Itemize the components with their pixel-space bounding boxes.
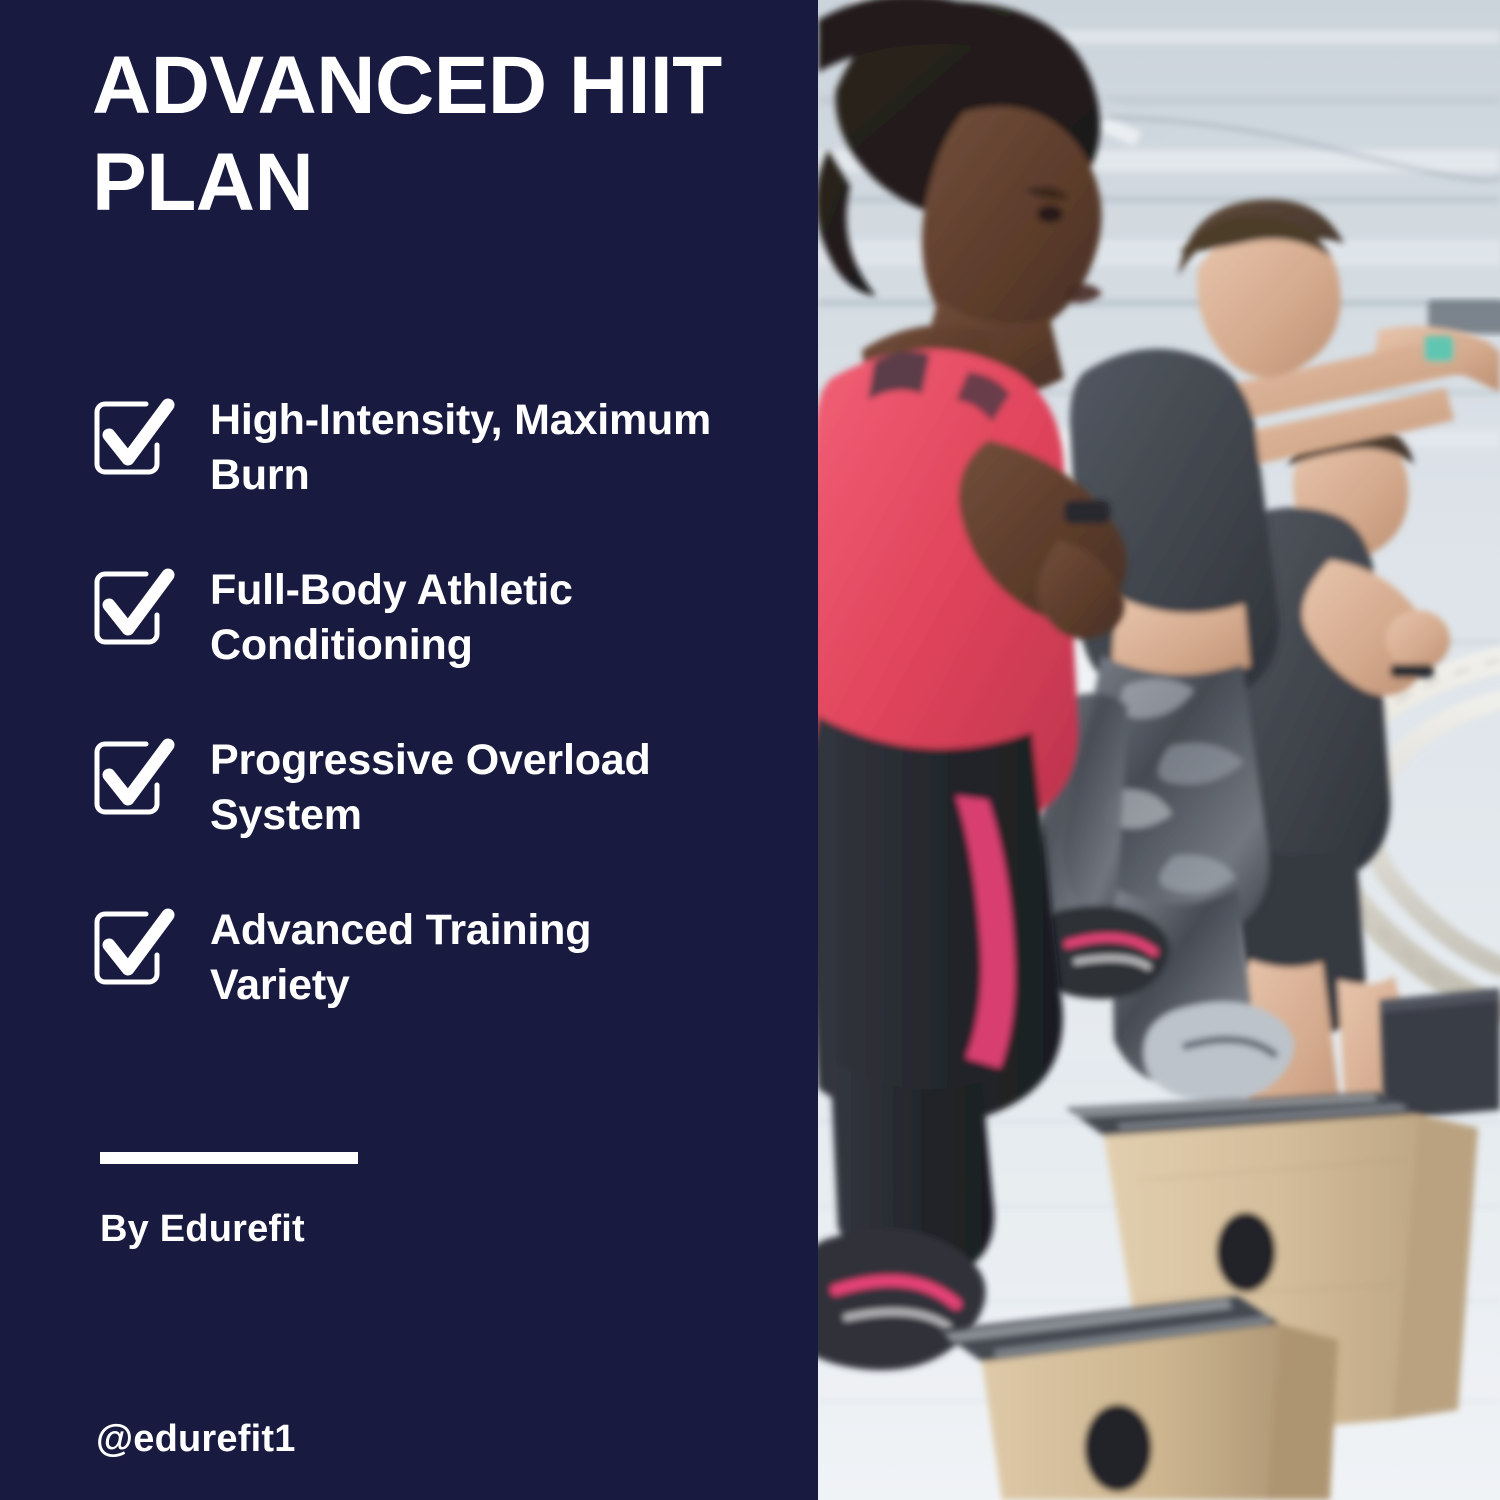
checkbox-checked-icon — [92, 739, 170, 817]
checkbox-checked-icon — [92, 569, 170, 647]
hero-photo — [818, 0, 1500, 1500]
section-divider — [100, 1152, 358, 1164]
feature-label: Full-Body Athletic Conditioning — [210, 563, 740, 673]
feature-label: High-Intensity, Maximum Burn — [210, 393, 740, 503]
list-item: Progressive Overload System — [92, 733, 772, 903]
feature-label: Advanced Training Variety — [210, 903, 740, 1013]
page-title: ADVANCED HIIT PLAN — [92, 38, 752, 232]
info-panel: ADVANCED HIIT PLAN High-Intensity, Maxim… — [0, 0, 818, 1500]
byline: By Edurefit — [100, 1208, 305, 1251]
checkbox-checked-icon — [92, 399, 170, 477]
checkbox-checked-icon — [92, 909, 170, 987]
list-item: Full-Body Athletic Conditioning — [92, 563, 772, 733]
list-item: Advanced Training Variety — [92, 903, 772, 1073]
list-item: High-Intensity, Maximum Burn — [92, 393, 772, 563]
feature-label: Progressive Overload System — [210, 733, 740, 843]
headline-line-1: ADVANCED HIIT — [92, 40, 722, 131]
poster-canvas: ADVANCED HIIT PLAN High-Intensity, Maxim… — [0, 0, 1500, 1500]
social-handle: @edurefit1 — [96, 1418, 296, 1461]
headline-line-2: PLAN — [92, 137, 313, 228]
feature-list: High-Intensity, Maximum Burn Full-Body A… — [92, 393, 772, 1073]
